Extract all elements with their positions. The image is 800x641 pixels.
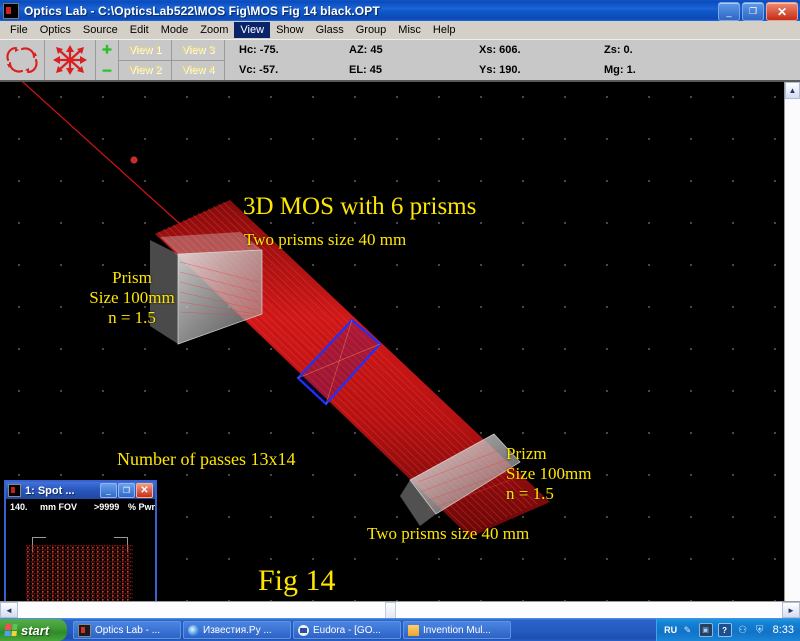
taskbar-item-label: Optics Lab - ... — [95, 625, 160, 636]
readout-mg: Mg: 1. — [604, 64, 800, 76]
folder-icon — [408, 625, 419, 636]
close-button[interactable]: ✕ — [766, 2, 798, 21]
spot-diagram-plot: 140. mm FOV >9999 % Pwr — [6, 499, 155, 601]
spot-close-button[interactable]: ✕ — [136, 483, 153, 498]
system-tray: RU ✎ ▣ ? ⚇ ⛨ 8:33 — [656, 619, 800, 641]
language-indicator[interactable]: RU — [665, 624, 677, 636]
network-icon[interactable]: ▣ — [699, 623, 713, 637]
spot-window-controls: _ ❐ ✕ — [100, 483, 153, 498]
menu-item-mode[interactable]: Mode — [155, 22, 195, 38]
vertical-scrollbar[interactable]: ▲ — [784, 82, 800, 601]
view-1-button[interactable]: View 1 — [119, 40, 171, 61]
camera-readout: Hc: -75. AZ: 45 Xs: 606. Zs: 0. Vc: -57.… — [225, 40, 800, 80]
start-button[interactable]: start — [0, 619, 67, 641]
toolbar: + – View 1 View 2 View 3 View 4 Hc: -75.… — [0, 39, 800, 82]
menu-item-help[interactable]: Help — [427, 22, 462, 38]
horizontal-scrollbar[interactable]: ◄ ► — [0, 601, 800, 618]
taskbar-item-label: Известия.Ру ... — [203, 625, 272, 636]
minimize-button[interactable]: _ — [718, 2, 740, 21]
menu-item-glass[interactable]: Glass — [310, 22, 350, 38]
taskbar-item-label: Invention Mul... — [423, 625, 491, 636]
pan-arrows-icon — [47, 43, 93, 77]
window-title: Optics Lab - C:\OpticsLab522\MOS Fig\MOS… — [24, 4, 380, 18]
view-2-button[interactable]: View 2 — [119, 61, 171, 81]
spot-diagram-window[interactable]: 1: Spot ... _ ❐ ✕ 140. mm FOV >9999 % Pw… — [4, 480, 157, 601]
readout-az: AZ: 45 — [349, 44, 479, 56]
spot-fov-value: 140. — [10, 502, 28, 512]
spot-power-unit: % Pwr — [128, 502, 155, 512]
source-point — [130, 156, 137, 163]
menu-item-source[interactable]: Source — [77, 22, 124, 38]
eudora-icon — [298, 625, 309, 636]
input-ray — [14, 82, 200, 242]
spot-minimize-button[interactable]: _ — [100, 483, 117, 498]
zoom-tool-group: + – — [96, 40, 119, 80]
menu-item-misc[interactable]: Misc — [392, 22, 427, 38]
scroll-left-arrow-icon[interactable]: ◄ — [0, 602, 18, 618]
readout-xs: Xs: 606. — [479, 44, 604, 56]
window-controls: _ ❐ ✕ — [718, 2, 798, 21]
readout-zs: Zs: 0. — [604, 44, 800, 56]
taskbar-item-eudora[interactable]: Eudora - [GO... — [293, 621, 401, 639]
scroll-right-arrow-icon[interactable]: ► — [782, 602, 800, 618]
menu-item-zoom[interactable]: Zoom — [194, 22, 234, 38]
zoom-in-button[interactable]: + — [96, 41, 118, 59]
pen-icon[interactable]: ✎ — [682, 624, 694, 636]
ie-icon — [188, 625, 199, 636]
menu-item-file[interactable]: File — [4, 22, 34, 38]
app-icon — [3, 3, 19, 19]
readout-vc: Vc: -57. — [239, 64, 349, 76]
spot-fov-unit: mm FOV — [40, 502, 77, 512]
pan-tool-group[interactable] — [45, 40, 96, 80]
taskbar-item-invention[interactable]: Invention Mul... — [403, 621, 511, 639]
prism-upper-left — [150, 232, 262, 344]
readout-el: EL: 45 — [349, 64, 479, 76]
menu-item-edit[interactable]: Edit — [124, 22, 155, 38]
view-buttons-col-2: View 3 View 4 — [172, 40, 225, 80]
taskbar-item-izvestia[interactable]: Известия.Ру ... — [183, 621, 291, 639]
taskbar: start Optics Lab - ... Известия.Ру ... E… — [0, 618, 800, 641]
menu-item-show[interactable]: Show — [270, 22, 310, 38]
zoom-out-button[interactable]: – — [96, 61, 118, 79]
menu-item-view[interactable]: View — [234, 22, 270, 38]
scroll-up-arrow-icon[interactable]: ▲ — [785, 82, 800, 99]
viewport-area: 3D MOS with 6 prisms Two prisms size 40 … — [0, 82, 800, 601]
rotate-tool-group[interactable] — [0, 40, 45, 80]
title-bar: Optics Lab - C:\OpticsLab522\MOS Fig\MOS… — [0, 0, 800, 21]
clock[interactable]: 8:33 — [771, 624, 794, 636]
rotate-arrows-icon — [2, 43, 42, 77]
view-3-button[interactable]: View 3 — [172, 40, 224, 61]
windows-flag-icon — [4, 624, 17, 636]
spot-maximize-button[interactable]: ❐ — [118, 483, 135, 498]
spot-power-value: >9999 — [94, 502, 119, 512]
vertical-scroll-track[interactable] — [785, 99, 800, 601]
view-4-button[interactable]: View 4 — [172, 61, 224, 81]
shield-icon[interactable]: ⛨ — [754, 624, 766, 636]
menu-bar: File Optics Source Edit Mode Zoom View S… — [0, 21, 800, 39]
readout-ys: Ys: 190. — [479, 64, 604, 76]
taskbar-item-optics-lab[interactable]: Optics Lab - ... — [73, 621, 181, 639]
application-window: Optics Lab - C:\OpticsLab522\MOS Fig\MOS… — [0, 0, 800, 618]
horizontal-scroll-track[interactable] — [18, 602, 782, 618]
menu-item-group[interactable]: Group — [350, 22, 393, 38]
taskbar-items: Optics Lab - ... Известия.Ру ... Eudora … — [67, 619, 656, 641]
spot-window-icon — [8, 484, 21, 497]
menu-item-optics[interactable]: Optics — [34, 22, 77, 38]
optics-icon — [78, 624, 91, 637]
start-button-label: start — [21, 623, 49, 638]
optics-3d-canvas[interactable]: 3D MOS with 6 prisms Two prisms size 40 … — [0, 82, 784, 601]
taskbar-item-label: Eudora - [GO... — [313, 625, 381, 636]
view-buttons-col-1: View 1 View 2 — [119, 40, 172, 80]
restore-button[interactable]: ❐ — [742, 2, 764, 21]
spot-window-title: 1: Spot ... — [25, 485, 100, 497]
spot-window-titlebar[interactable]: 1: Spot ... _ ❐ ✕ — [6, 482, 155, 499]
misc-tray-icon[interactable]: ⚇ — [737, 624, 749, 636]
spot-point-cloud — [27, 547, 132, 601]
help-icon[interactable]: ? — [718, 623, 732, 637]
readout-hc: Hc: -75. — [239, 44, 349, 56]
